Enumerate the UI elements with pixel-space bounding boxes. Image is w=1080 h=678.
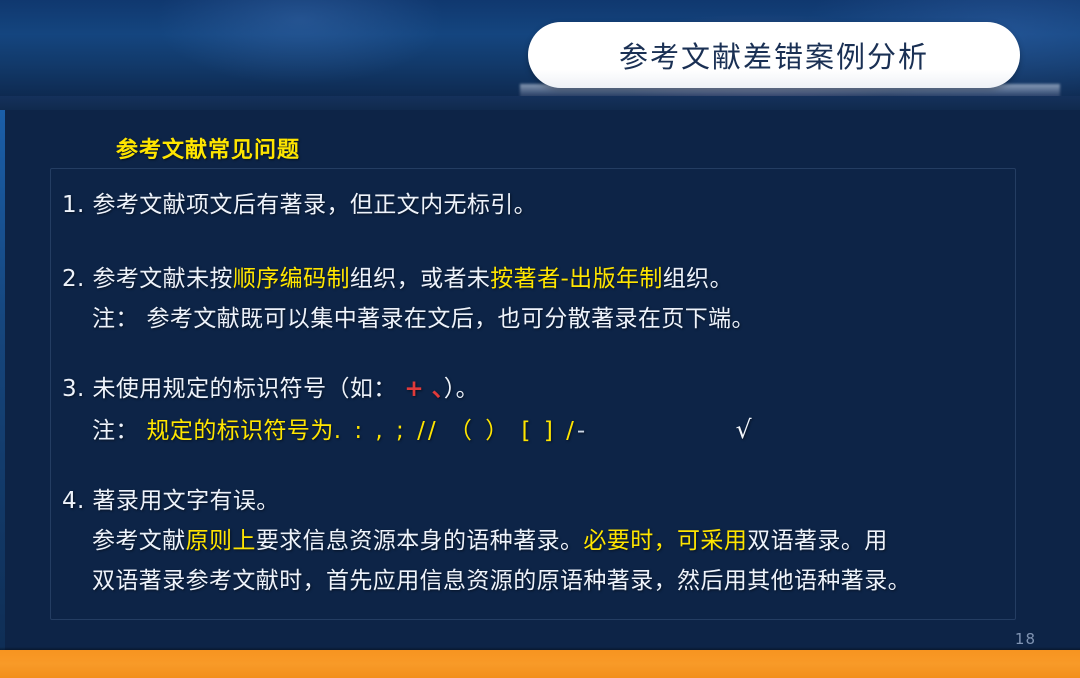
- list-item-4-cont-a-1: 参考文献: [92, 528, 186, 554]
- list-item-4-cont-a-hl2: 必要时，: [583, 528, 677, 554]
- left-accent-edge: [0, 110, 5, 650]
- page-title: 参考文献差错案例分析: [619, 34, 929, 76]
- page-number: 18: [1015, 630, 1036, 648]
- slide: 参考文献差错案例分析 参考文献常见问题 1. 参考文献项文后有著录，但正文内无标…: [0, 0, 1080, 678]
- list-item-3: 3. 未使用规定的标识符号（如： + 、）。: [62, 370, 479, 409]
- header-base-strip: [0, 96, 1080, 110]
- list-item-4-cont-a-hl1: 原则上: [186, 528, 256, 554]
- list-item-4-cont-a-2: 要求信息资源本身的语种著录。: [256, 528, 584, 554]
- dun-comma-symbol-red: 、: [432, 376, 444, 402]
- list-item-2-highlight-b: 按著者-出版年制: [490, 266, 663, 292]
- list-item-1: 1. 参考文献项文后有著录，但正文内无标引。: [62, 186, 537, 225]
- list-item-4: 4. 著录用文字有误。: [62, 482, 280, 521]
- list-item-4-text: 著录用文字有误。: [92, 488, 279, 514]
- section-heading: 参考文献常见问题: [116, 132, 300, 164]
- list-item-1-number: 1.: [62, 186, 85, 225]
- plus-symbol-red: +: [404, 376, 424, 402]
- list-item-3-note-symbols: . : , ; // （ ） [ ] /: [334, 418, 577, 444]
- list-item-4-continuation-line-2: 双语著录参考文献时，首先应用信息资源的原语种著录，然后用其他语种著录。: [92, 562, 911, 601]
- list-item-3-note-highlight: 规定的标识符号为: [147, 418, 334, 444]
- list-item-3-text-a: 未使用规定的标识符号（如：: [92, 376, 396, 402]
- list-item-3-note-label: 注：: [92, 418, 139, 444]
- list-item-2-number: 2.: [62, 260, 85, 299]
- list-item-3-note-dash: -: [577, 418, 586, 444]
- list-item-4-number: 4.: [62, 482, 85, 521]
- list-item-2-text-c: 组织。: [663, 266, 733, 292]
- list-item-3-note: 注： 规定的标识符号为. : , ; // （ ） [ ] /-√: [92, 410, 752, 451]
- list-item-4-cont-a-3: 双语著录。用: [747, 528, 887, 554]
- list-item-1-text: 参考文献项文后有著录，但正文内无标引。: [92, 192, 537, 218]
- list-item-2-note-text: 参考文献既可以集中著录在文后，也可分散著录在页下端。: [147, 306, 755, 332]
- list-item-4-cont-a-hl3: 可采用: [677, 528, 747, 554]
- list-item-2-note-label: 注：: [92, 306, 139, 332]
- list-item-2-text-b: 组织，或者未: [350, 266, 490, 292]
- list-item-2: 2. 参考文献未按顺序编码制组织，或者未按著者-出版年制组织。: [62, 260, 733, 299]
- slide-title-pill: 参考文献差错案例分析: [528, 22, 1020, 88]
- check-mark-icon: √: [736, 415, 752, 444]
- list-item-2-text-a: 参考文献未按: [92, 266, 232, 292]
- list-item-3-number: 3.: [62, 370, 85, 409]
- list-item-2-highlight-a: 顺序编码制: [233, 266, 350, 292]
- list-item-3-text-b: ）。: [444, 376, 479, 402]
- footer-accent-bar: [0, 650, 1080, 678]
- list-item-4-continuation-line-1: 参考文献原则上要求信息资源本身的语种著录。必要时，可采用双语著录。用: [92, 522, 888, 561]
- list-item-2-note: 注： 参考文献既可以集中著录在文后，也可分散著录在页下端。: [92, 300, 755, 339]
